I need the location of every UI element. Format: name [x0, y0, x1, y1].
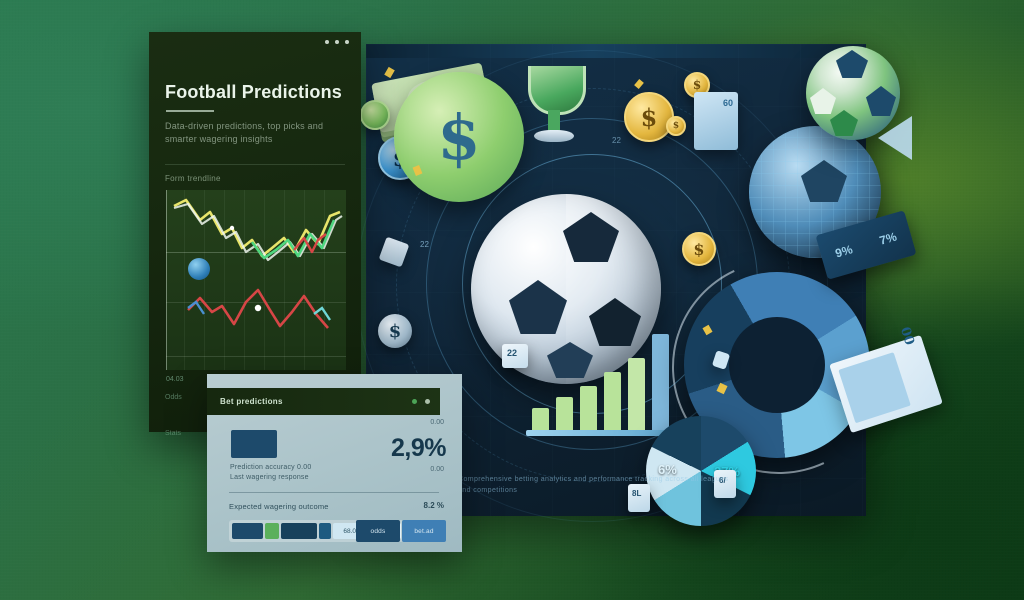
bar-2: [556, 397, 573, 430]
segment-navy-2[interactable]: [281, 523, 317, 539]
section-divider: [165, 164, 345, 165]
stats-value-primary: 2,9%: [391, 434, 446, 463]
coin-gold-top: $: [666, 116, 686, 136]
note-card-22: 22: [502, 344, 528, 368]
chart-section-label: Form trendline: [165, 174, 221, 183]
bar-5: [628, 358, 645, 430]
primary-action-button[interactable]: odds: [356, 520, 400, 542]
note-card-60: 60: [694, 92, 738, 150]
segment-green[interactable]: [265, 523, 279, 539]
coin-green-donut: $: [394, 72, 524, 202]
coin-badge-icon: [188, 258, 210, 280]
play-triangle-icon: [878, 116, 912, 160]
progress-label: Expected wagering outcome: [229, 502, 329, 511]
dashboard-bar-chart: [526, 332, 676, 436]
bar-1: [532, 408, 549, 430]
segment-navy-3[interactable]: [319, 523, 331, 539]
coin-green-edge: [360, 100, 390, 130]
secondary-action-button[interactable]: bet.ad: [402, 520, 446, 542]
ball-panel: [866, 86, 896, 116]
hero-illustration: 22 21 22 6 $ $ $ $ $ $ $ $: [0, 0, 1024, 600]
stats-line-1: Prediction accuracy 0.00: [230, 464, 311, 471]
stats-card-actions[interactable]: odds bet.ad: [356, 520, 446, 542]
window-dot-icon[interactable]: [325, 40, 329, 44]
bar-4: [604, 372, 621, 430]
window-controls[interactable]: [325, 40, 349, 44]
trophy-icon: [524, 66, 584, 152]
tilt-card-value-1: 9%: [834, 242, 855, 260]
stats-value-bottom: 0.00: [430, 466, 444, 473]
coin-steel-left: $: [378, 314, 412, 348]
progress-percent: 8.2 %: [424, 501, 444, 510]
stats-card-title: Bet predictions: [220, 397, 283, 406]
title-rule: [166, 110, 214, 112]
window-dot-icon[interactable]: [345, 40, 349, 44]
panel-footnote: Odds: [165, 394, 182, 401]
stats-card-header-icons[interactable]: [412, 399, 430, 404]
stats-card-header: Bet predictions: [207, 388, 440, 415]
dollar-sign-icon: $: [437, 101, 480, 174]
note-value: 22: [507, 348, 517, 358]
ring-marker-22: 22: [420, 240, 429, 249]
chart-thumbnail: [231, 430, 277, 458]
ball-panel: [830, 110, 858, 136]
ball-panel: [509, 280, 567, 334]
coin-gold-donut-side: $: [682, 232, 716, 266]
left-panel-line-chart: [166, 190, 346, 370]
dashboard-caption: Comprehensive betting analytics and perf…: [458, 474, 738, 496]
segment-navy-1[interactable]: [232, 523, 263, 539]
stats-value-top: 0.00: [430, 419, 444, 426]
stats-card-divider: [229, 492, 439, 493]
page-title: Football Predictions: [165, 82, 342, 103]
ball-panel: [810, 88, 836, 114]
line-chart-svg: [166, 190, 346, 370]
window-dot-icon[interactable]: [335, 40, 339, 44]
bar-3: [580, 386, 597, 430]
stats-card: Bet predictions 0.00 2,9% 0.00 Predictio…: [207, 374, 462, 552]
ball-panel: [836, 50, 868, 78]
page-subtitle: Data-driven predictions, top picks and s…: [165, 120, 335, 146]
note-value: 60: [723, 98, 733, 108]
stats-line-2: Last wagering response: [230, 474, 309, 481]
tilt-card-value-2: 7%: [878, 230, 899, 248]
banknote-inner: [838, 352, 910, 423]
bar-6: [652, 334, 669, 430]
status-dot-green-icon: [412, 399, 417, 404]
status-dot-white-icon: [425, 399, 430, 404]
panel-footnote-2: Stats: [165, 430, 181, 437]
bar-chart-baseline: [526, 430, 676, 436]
ring-marker-22b: 22: [612, 136, 621, 145]
xtick-label: 04.03: [166, 376, 184, 383]
coin-gold-large: $: [624, 92, 674, 142]
football-predictions-panel: Football Predictions Data-driven predict…: [149, 32, 361, 432]
